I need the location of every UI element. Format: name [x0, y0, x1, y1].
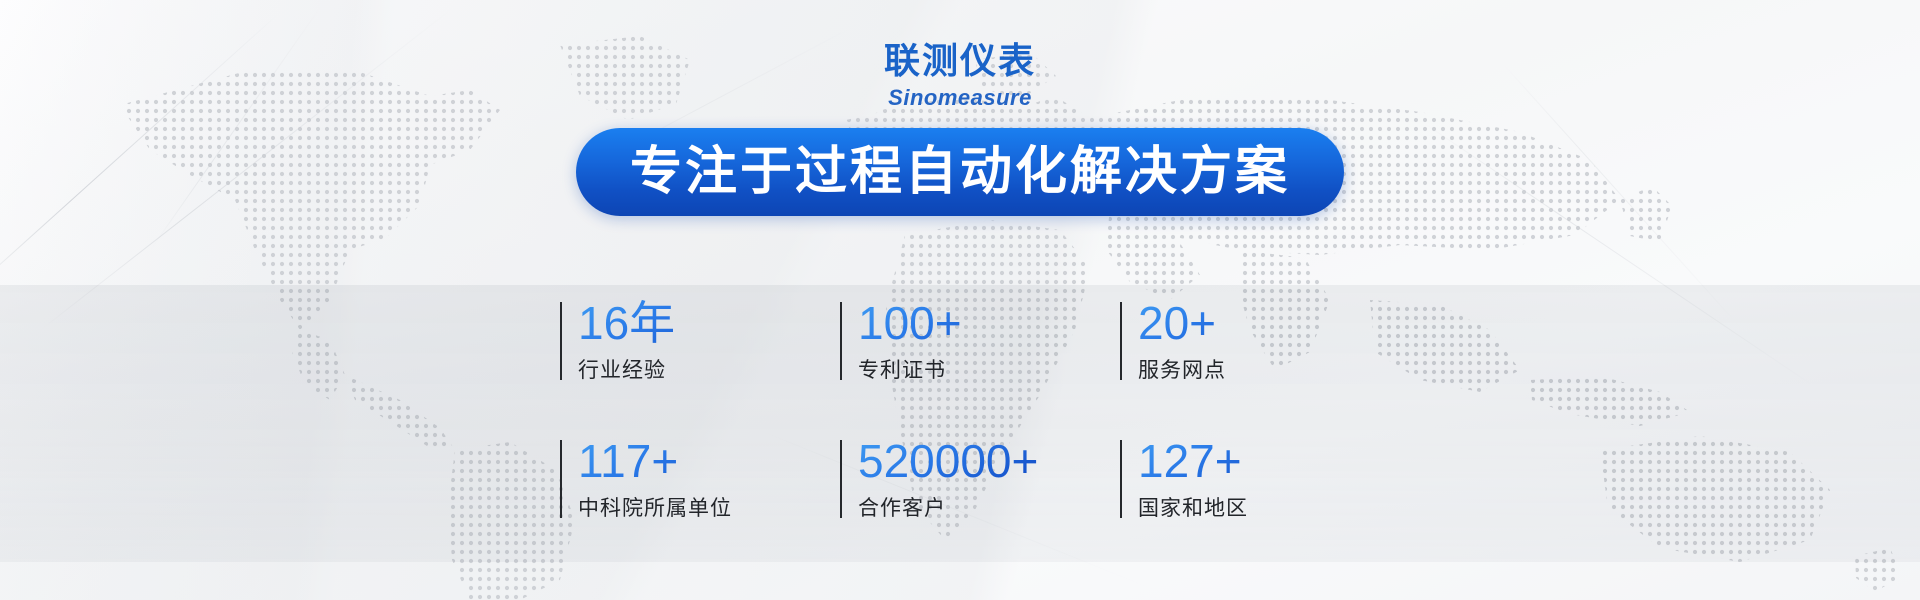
brand-logo-en: Sinomeasure [0, 87, 1920, 109]
stat-label: 国家和地区 [1138, 498, 1360, 519]
headline-text: 专注于过程自动化解决方案 [630, 146, 1290, 198]
stats-grid: 16年 行业经验 100+ 专利证书 20+ 服务网点 117+ 中科院所属单位… [560, 300, 1360, 534]
stat-value: 20+ [1138, 300, 1360, 346]
stat-label: 合作客户 [858, 498, 1120, 519]
stat-label: 专利证书 [858, 360, 1120, 381]
stat-label: 行业经验 [578, 360, 840, 381]
stat-value: 100+ [858, 300, 1120, 346]
banner-content: 联测仪表 Sinomeasure 专注于过程自动化解决方案 16年 行业经验 1… [0, 0, 1920, 600]
stat-item-customers: 520000+ 合作客户 [840, 438, 1120, 534]
stat-item-service-sites: 20+ 服务网点 [1120, 300, 1360, 396]
stat-item-patents: 100+ 专利证书 [840, 300, 1120, 396]
stat-label: 中科院所属单位 [578, 498, 840, 519]
stat-label: 服务网点 [1138, 360, 1360, 381]
stat-item-years: 16年 行业经验 [560, 300, 840, 396]
stat-value: 520000+ [858, 438, 1120, 484]
headline-pill: 专注于过程自动化解决方案 [576, 128, 1344, 216]
stat-value: 117+ [578, 438, 840, 484]
stat-value: 16年 [578, 300, 840, 346]
brand-logo: 联测仪表 Sinomeasure [0, 44, 1920, 109]
stat-value: 127+ [1138, 438, 1360, 484]
brand-logo-cn: 联测仪表 [0, 44, 1920, 80]
headline-container: 专注于过程自动化解决方案 [0, 128, 1920, 216]
promo-banner: 联测仪表 Sinomeasure 专注于过程自动化解决方案 16年 行业经验 1… [0, 0, 1920, 600]
stat-item-cas-units: 117+ 中科院所属单位 [560, 438, 840, 534]
stat-item-countries: 127+ 国家和地区 [1120, 438, 1360, 534]
